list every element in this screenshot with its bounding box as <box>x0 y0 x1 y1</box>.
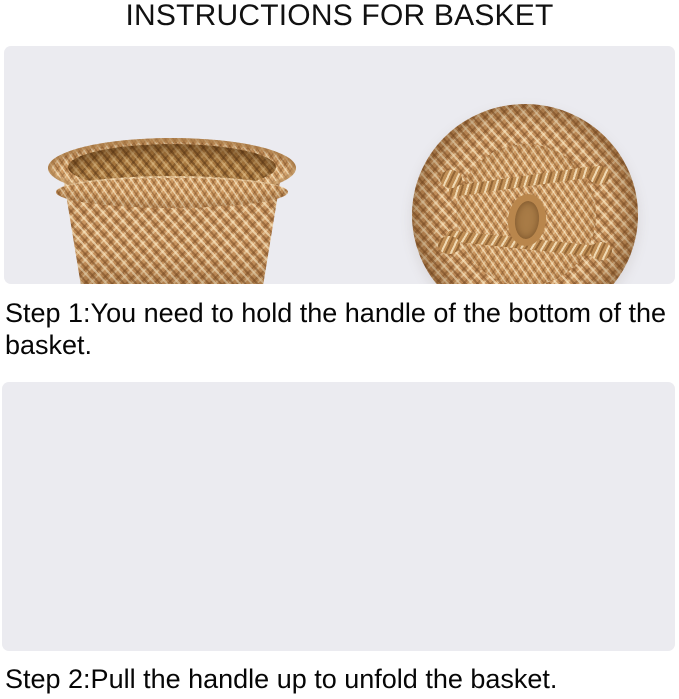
page-title: INSTRUCTIONS FOR BASKET <box>0 0 679 34</box>
handle-knot-bottom-right <box>590 242 612 260</box>
step-2-image-panel <box>2 382 675 651</box>
handle-knot-top-right <box>588 166 610 184</box>
step-2-caption: Step 2:Pull the handle up to unfold the … <box>5 663 677 695</box>
basket-fold-edge <box>56 176 288 208</box>
collapsed-basket-side-view-image <box>42 130 302 284</box>
step-1-image-panel <box>4 46 675 284</box>
basket-top-down-view-image <box>412 104 638 284</box>
handle-knot-top-left <box>440 170 462 188</box>
step-1-caption: Step 1:You need to hold the handle of th… <box>5 297 677 361</box>
handle-knot-bottom-left <box>438 236 460 254</box>
